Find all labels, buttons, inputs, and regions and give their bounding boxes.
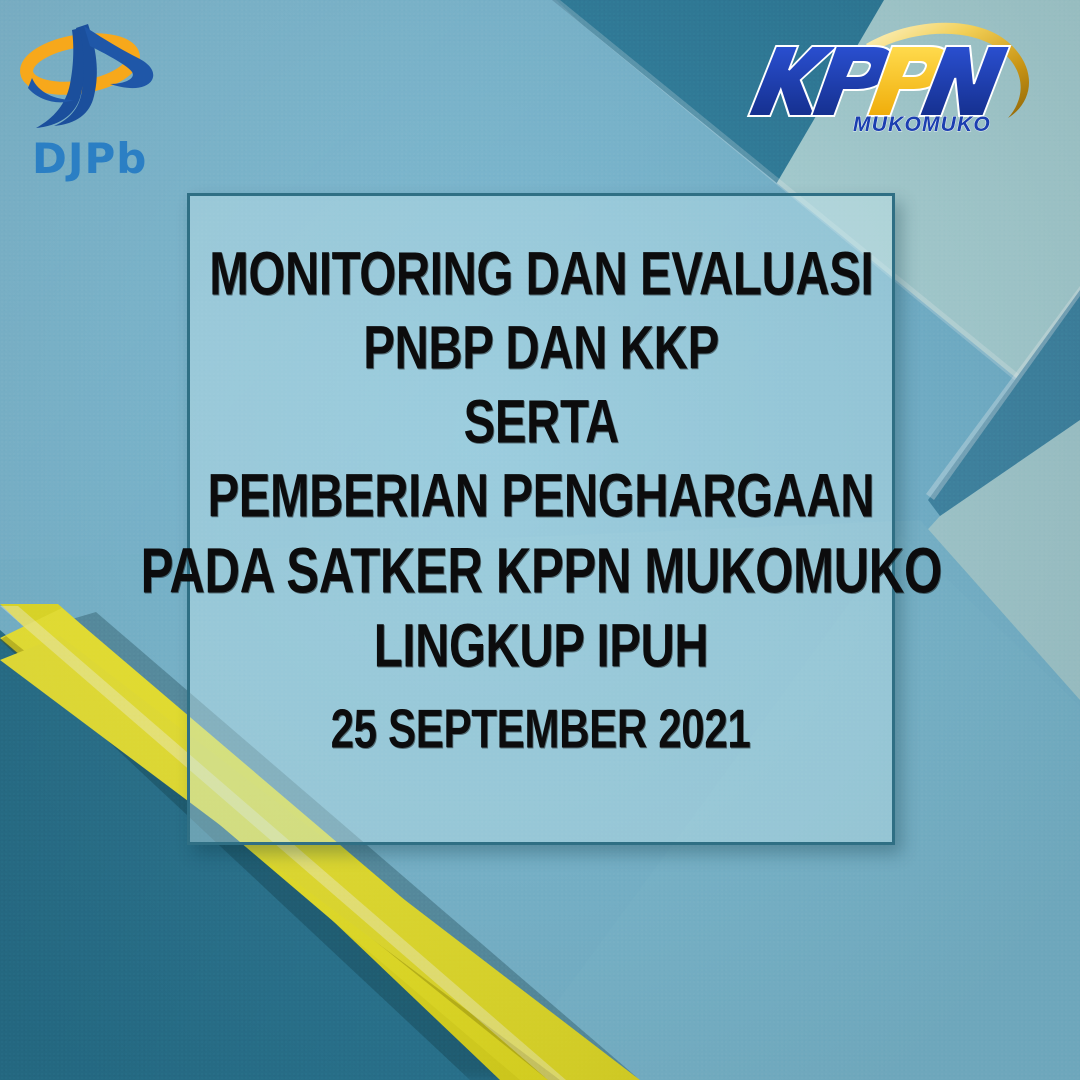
headline-line-6: LINGKUP IPUH bbox=[374, 615, 708, 677]
announcement-panel-content: MONITORING DAN EVALUASI PNBP DAN KKP SER… bbox=[190, 196, 892, 842]
headline-line-4: PEMBERIAN PENGHARGAAN bbox=[208, 465, 875, 527]
djpb-wordmark: DJPb bbox=[32, 134, 147, 183]
djpb-logo: DJPb bbox=[14, 22, 176, 182]
headline-line-2: PNBP DAN KKP bbox=[363, 317, 719, 379]
poster-canvas: DJPb bbox=[0, 0, 1080, 1080]
event-date: 25 SEPTEMBER 2021 bbox=[331, 703, 751, 758]
headline-line-3: SERTA bbox=[463, 391, 618, 453]
kppn-mukomuko-logo: MUKOMUKO bbox=[746, 18, 1046, 138]
headline-line-5: PADA SATKER KPPN MUKOMUKO bbox=[140, 539, 941, 603]
announcement-panel: MONITORING DAN EVALUASI PNBP DAN KKP SER… bbox=[187, 193, 895, 845]
headline-line-1: MONITORING DAN EVALUASI bbox=[209, 243, 873, 305]
kppn-subtitle: MUKOMUKO bbox=[853, 113, 991, 136]
